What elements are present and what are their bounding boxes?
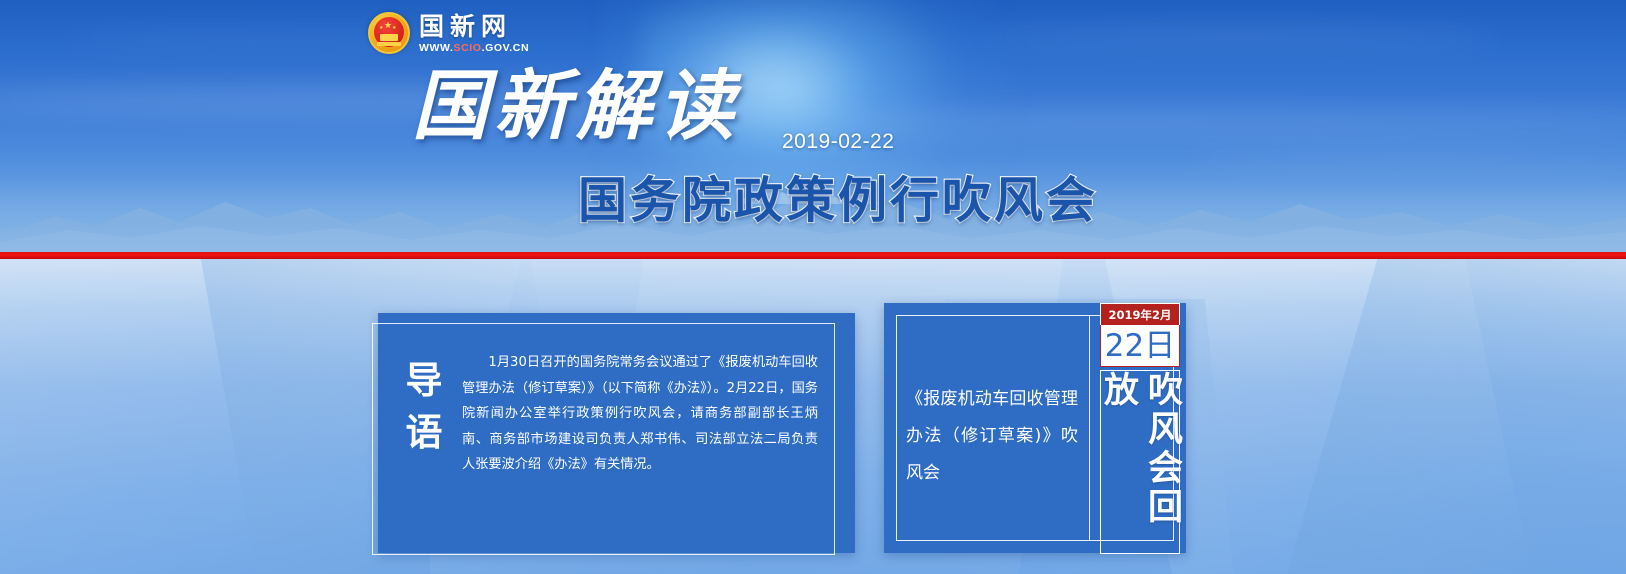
intro-card: 导语 1月30日召开的国务院常务会议通过了《报废机动车回收管理办法（修订草案）》… [378,313,855,553]
intro-body-text: 1月30日召开的国务院常务会议通过了《报废机动车回收管理办法（修订草案）》（以下… [462,350,818,478]
replay-label: 吹风会回放 [1096,371,1184,553]
topic-card[interactable]: 《报废机动车回收管理办法（修订草案)》吹风会 2019年2月 22日 吹风会回放 [884,303,1186,553]
header-banner: ★ ★ ★ 国新网 WWW.SCIO.GOV.CN 国新解读 2019-02-2… [0,0,1626,252]
date-month-label: 2019年2月 [1100,303,1180,325]
topic-title: 《报废机动车回收管理办法（修订草案)》吹风会 [906,381,1078,492]
logo-site-url: WWW.SCIO.GOV.CN [419,42,529,54]
date-day-label: 22日 [1100,325,1180,367]
red-divider [0,252,1626,259]
content-area: 导语 1月30日召开的国务院常务会议通过了《报废机动车回收管理办法（修订草案）》… [0,259,1626,574]
banner-date: 2019-02-22 [782,130,894,154]
intro-label: 导语 [400,355,448,459]
logo-url-mid: SCIO [453,42,481,54]
national-emblem-icon: ★ ★ ★ [368,12,410,54]
logo-text-block: 国新网 WWW.SCIO.GOV.CN [419,13,529,54]
logo-url-prefix: WWW. [419,42,453,54]
topic-card-divider [1089,315,1090,541]
date-badge: 2019年2月 22日 [1100,303,1180,367]
replay-button[interactable]: 吹风会回放 [1100,370,1180,554]
page-root: ★ ★ ★ 国新网 WWW.SCIO.GOV.CN 国新解读 2019-02-2… [0,0,1626,574]
banner-subtitle: 国务院政策例行吹风会 [578,173,1098,229]
logo-site-name: 国新网 [419,13,512,41]
cloud-decoration [980,28,1500,46]
banner-main-title: 国新解读 [412,66,740,146]
site-logo[interactable]: ★ ★ ★ 国新网 WWW.SCIO.GOV.CN [368,12,529,54]
logo-url-suffix: .GOV.CN [482,42,530,54]
